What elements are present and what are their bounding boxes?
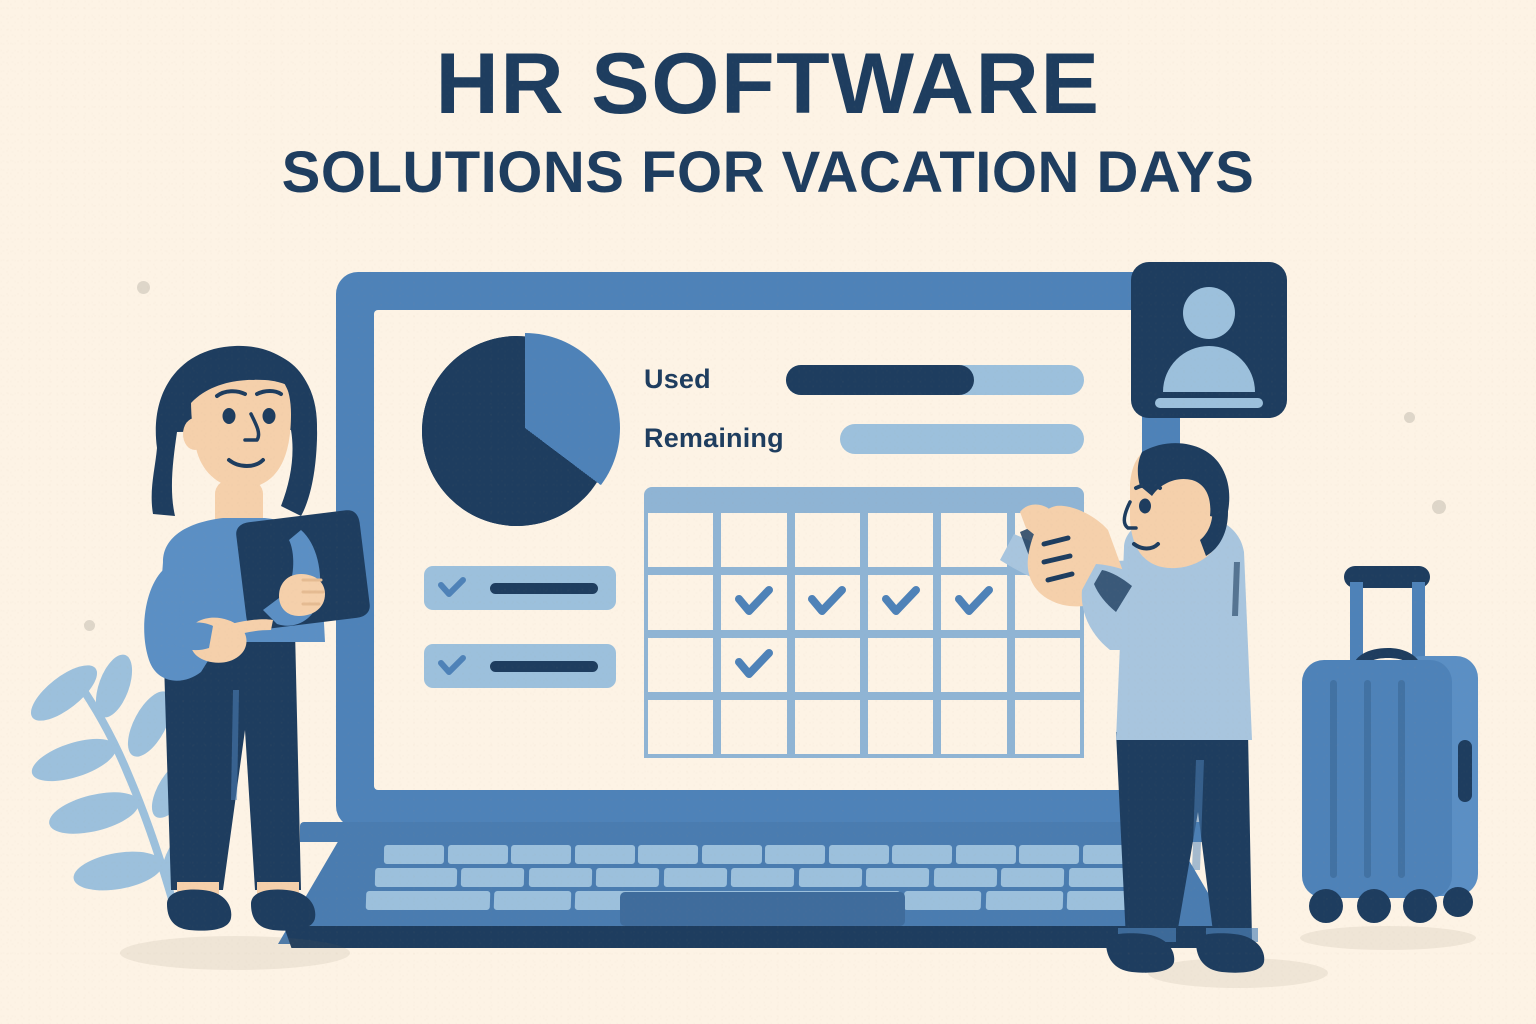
suitcase-shadow — [1300, 926, 1476, 950]
calendar-day-cell[interactable] — [864, 571, 937, 633]
keyboard-key[interactable] — [933, 868, 997, 887]
keyboard-key[interactable] — [904, 891, 982, 910]
decorative-dot — [137, 281, 150, 294]
calendar-day-cell[interactable] — [791, 696, 864, 758]
keyboard-key[interactable] — [866, 868, 930, 887]
check-icon — [807, 585, 847, 619]
calendar-day-cell[interactable] — [644, 696, 717, 758]
calendar-day-cell[interactable] — [864, 634, 937, 696]
vacation-pie-chart — [422, 336, 622, 536]
page-heading: HR SOFTWARE SOLUTIONS FOR VACATION DAYS — [0, 42, 1536, 202]
keyboard-key[interactable] — [638, 845, 698, 864]
employee-profile-card[interactable] — [1131, 262, 1287, 418]
calendar-day-cell[interactable] — [864, 696, 937, 758]
pointing-hand — [1000, 500, 1200, 650]
calendar-day-cell[interactable] — [717, 696, 790, 758]
keyboard-key[interactable] — [731, 868, 795, 887]
keyboard-key[interactable] — [529, 868, 593, 887]
calendar-day-cell[interactable] — [717, 571, 790, 633]
keyboard-key[interactable] — [799, 868, 863, 887]
calendar-day-cell[interactable] — [644, 509, 717, 571]
check-icon — [438, 654, 466, 678]
calendar-day-cell[interactable] — [717, 509, 790, 571]
list-item-bar — [490, 661, 598, 672]
list-item[interactable] — [424, 566, 616, 610]
illustration-canvas: HR SOFTWARE SOLUTIONS FOR VACATION DAYS — [0, 0, 1536, 1024]
hr-manager-figure — [105, 330, 415, 970]
calendar-day-cell[interactable] — [644, 634, 717, 696]
list-item[interactable] — [424, 644, 616, 688]
calendar-day-cell[interactable] — [791, 509, 864, 571]
avatar-head-icon — [1183, 287, 1235, 339]
laptop-trackpad[interactable] — [620, 892, 905, 926]
check-icon — [734, 585, 774, 619]
list-item-bar — [490, 583, 598, 594]
check-icon — [734, 648, 774, 682]
keyboard-key[interactable] — [511, 845, 571, 864]
check-icon — [438, 576, 466, 600]
calendar-day-cell[interactable] — [717, 634, 790, 696]
keyboard-key[interactable] — [494, 891, 572, 910]
calendar-day-cell[interactable] — [791, 634, 864, 696]
avatar-name-bar — [1155, 398, 1263, 408]
calendar-day-cell[interactable] — [644, 571, 717, 633]
keyboard-key[interactable] — [447, 845, 507, 864]
calendar-day-cell[interactable] — [791, 571, 864, 633]
keyboard-key[interactable] — [664, 868, 728, 887]
keyboard-key[interactable] — [574, 845, 634, 864]
check-icon — [881, 585, 921, 619]
page-title: HR SOFTWARE — [0, 42, 1536, 126]
pie-slice-remaining — [430, 333, 620, 523]
avatar-body-icon — [1163, 346, 1255, 392]
legend-label-used: Used — [644, 364, 711, 395]
keyboard-key[interactable] — [596, 868, 660, 887]
keyboard-key[interactable] — [461, 868, 525, 887]
rolling-suitcase — [1296, 560, 1486, 940]
calendar-day-cell[interactable] — [864, 509, 937, 571]
progress-fill-used — [786, 365, 974, 395]
decorative-dot — [1404, 412, 1415, 423]
page-subtitle: SOLUTIONS FOR VACATION DAYS — [0, 144, 1536, 202]
legend-label-remaining: Remaining — [644, 423, 784, 454]
progress-track-used[interactable] — [786, 365, 1084, 395]
decorative-dot — [1432, 500, 1446, 514]
check-icon — [954, 585, 994, 619]
keyboard-key[interactable] — [892, 845, 952, 864]
keyboard-key[interactable] — [828, 845, 888, 864]
keyboard-key[interactable] — [765, 845, 825, 864]
keyboard-key[interactable] — [701, 845, 761, 864]
